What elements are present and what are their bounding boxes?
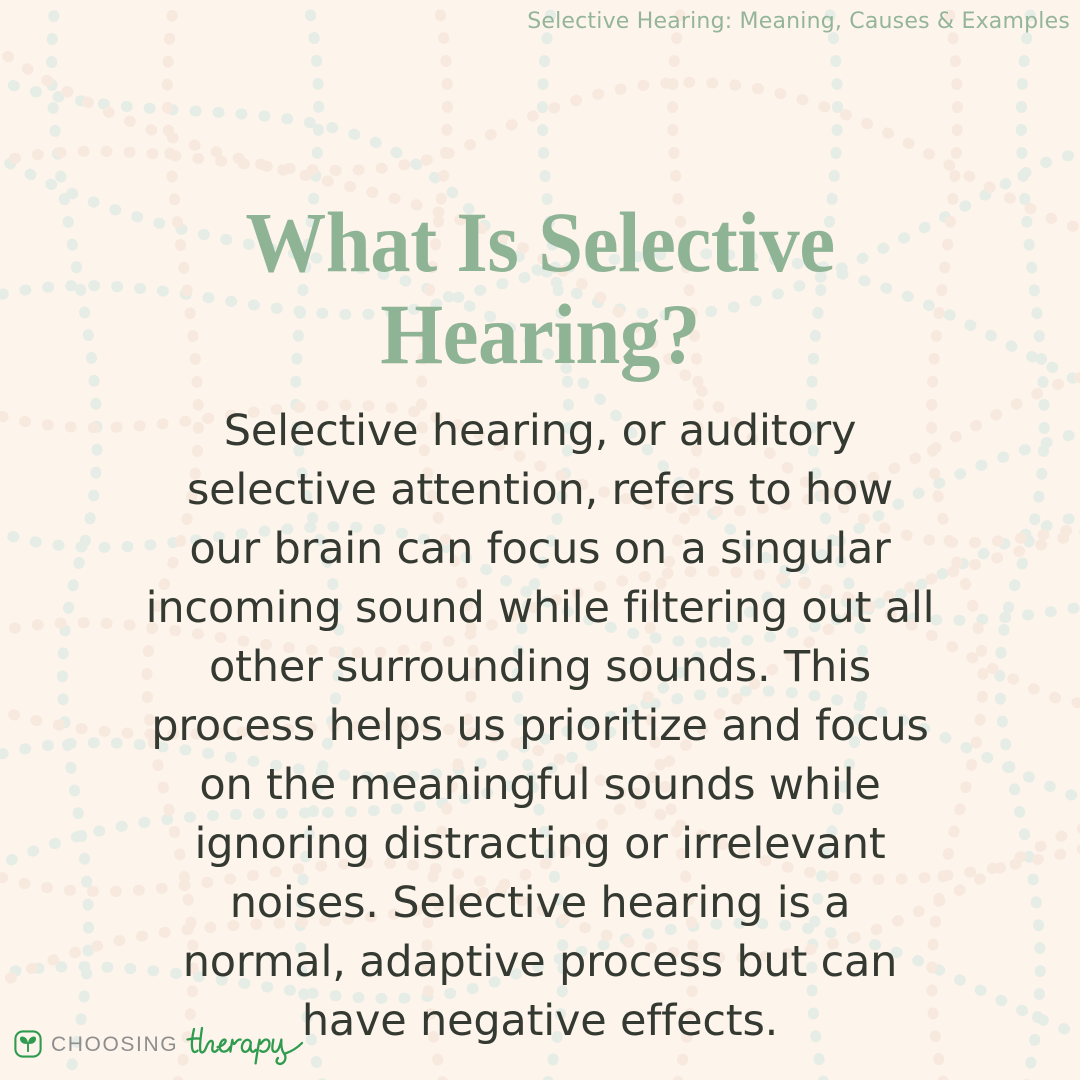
logo-word-therapy xyxy=(184,1021,334,1067)
logo-word-choosing: CHOOSING xyxy=(51,1034,178,1055)
header-bar: Selective Hearing: Meaning, Causes & Exa… xyxy=(0,0,1070,42)
leaf-plant-icon xyxy=(14,1030,42,1058)
header-article-title: Selective Hearing: Meaning, Causes & Exa… xyxy=(527,9,1070,34)
social-card: Selective Hearing: Meaning, Causes & Exa… xyxy=(0,0,1080,1080)
main-content: What Is Selective Hearing? Selective hea… xyxy=(0,196,1080,1051)
body-paragraph: Selective hearing, or auditory selective… xyxy=(145,402,935,1051)
brand-logo[interactable]: CHOOSING xyxy=(14,1022,334,1066)
page-title: What Is Selective Hearing? xyxy=(32,196,1047,380)
